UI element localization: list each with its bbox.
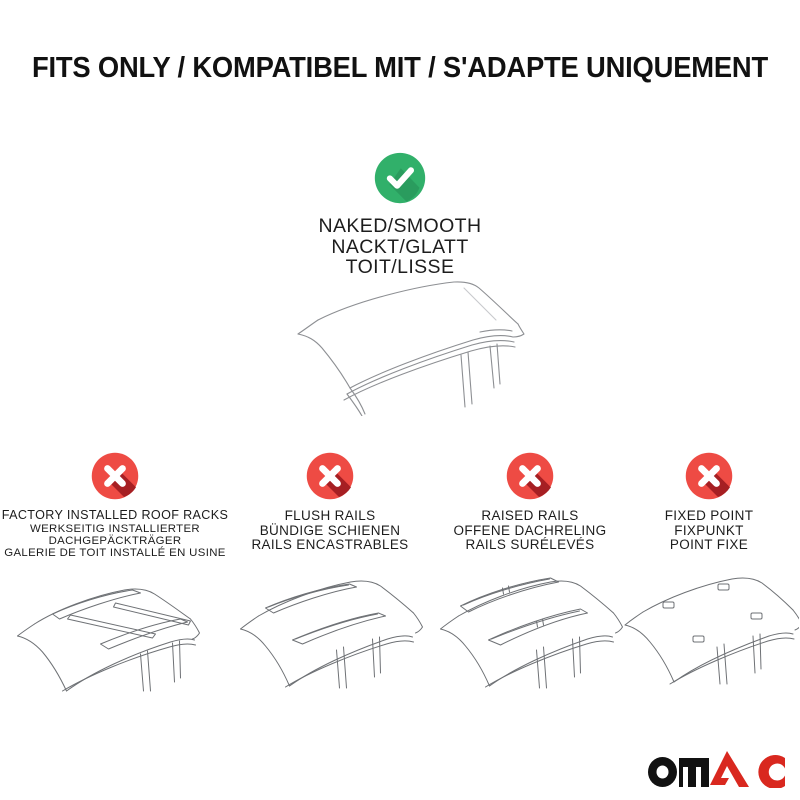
compatible-label-line-1: NAKED/SMOOTH [0, 216, 800, 237]
red-cross-circle-icon [91, 452, 139, 500]
incompatible-item-fixed-point: FIXED POINT FIXPUNKT POINT FIXE [618, 452, 800, 553]
incompatible-label-line-1: RAISED RAILS [433, 509, 627, 524]
incompatible-label-line-2: FIXPUNKT [618, 524, 800, 539]
compatible-label-line-2: NACKT/GLATT [0, 237, 800, 258]
compatible-label-line-3: TOIT/LISSE [0, 257, 800, 278]
omac-logo [646, 748, 788, 788]
flush-rails-illustration [233, 560, 428, 690]
red-cross-circle-icon [306, 452, 354, 500]
incompatible-item-flush-rails: FLUSH RAILS BÜNDIGE SCHIENEN RAILS ENCAS… [233, 452, 427, 553]
compatible-section: NAKED/SMOOTH NACKT/GLATT TOIT/LISSE [0, 152, 800, 278]
incompatible-label-line-2: BÜNDIGE SCHIENEN [233, 524, 427, 539]
page-title: FITS ONLY / KOMPATIBEL MIT / S'ADAPTE UN… [16, 52, 784, 85]
incompatible-label-line-2: OFFENE DACHRELING [433, 524, 627, 539]
incompatible-labels: FACTORY INSTALLED ROOF RACKS WERKSEITIG … [0, 509, 230, 560]
red-cross-circle-icon [506, 452, 554, 500]
incompatible-label-line-2: WERKSEITIG INSTALLIERTER [0, 523, 230, 535]
incompatible-item-factory-installed-roof-racks: FACTORY INSTALLED ROOF RACKS WERKSEITIG … [0, 452, 230, 560]
incompatible-label-line-3: RAILS SURÉLEVÉS [433, 538, 627, 553]
incompatible-item-raised-rails: RAISED RAILS OFFENE DACHRELING RAILS SUR… [433, 452, 627, 553]
incompatible-label-line-1: FIXED POINT [618, 509, 800, 524]
fixed-point-illustration [619, 560, 799, 690]
incompatible-labels: FLUSH RAILS BÜNDIGE SCHIENEN RAILS ENCAS… [233, 509, 427, 553]
incompatible-label-line-1: FACTORY INSTALLED ROOF RACKS [0, 509, 230, 523]
omac-logo-letter-a [710, 751, 749, 787]
incompatible-label-line-3: RAILS ENCASTRABLES [233, 538, 427, 553]
compatible-labels: NAKED/SMOOTH NACKT/GLATT TOIT/LISSE [0, 216, 800, 278]
red-cross-circle-icon [685, 452, 733, 500]
omac-logo-letter-o [648, 757, 677, 787]
incompatible-label-line-1: FLUSH RAILS [233, 509, 427, 524]
incompatible-label-line-3: DACHGEPÄCKTRÄGER [0, 535, 230, 547]
green-check-circle-icon [374, 152, 426, 204]
incompatible-label-line-4: GALERIE DE TOIT INSTALLÉ EN USINE [0, 547, 230, 559]
omac-logo-letter-c [758, 755, 785, 788]
omac-logo-letter-m [679, 758, 709, 787]
incompatible-labels: RAISED RAILS OFFENE DACHRELING RAILS SUR… [433, 509, 627, 553]
raised-rails-illustration [433, 560, 628, 690]
incompatible-labels: FIXED POINT FIXPUNKT POINT FIXE [618, 509, 800, 553]
smooth-roof-illustration [268, 276, 568, 416]
incompatible-label-line-3: POINT FIXE [618, 538, 800, 553]
factory-roof-rack-illustration [13, 562, 218, 692]
incompatible-section: FACTORY INSTALLED ROOF RACKS WERKSEITIG … [0, 452, 800, 692]
